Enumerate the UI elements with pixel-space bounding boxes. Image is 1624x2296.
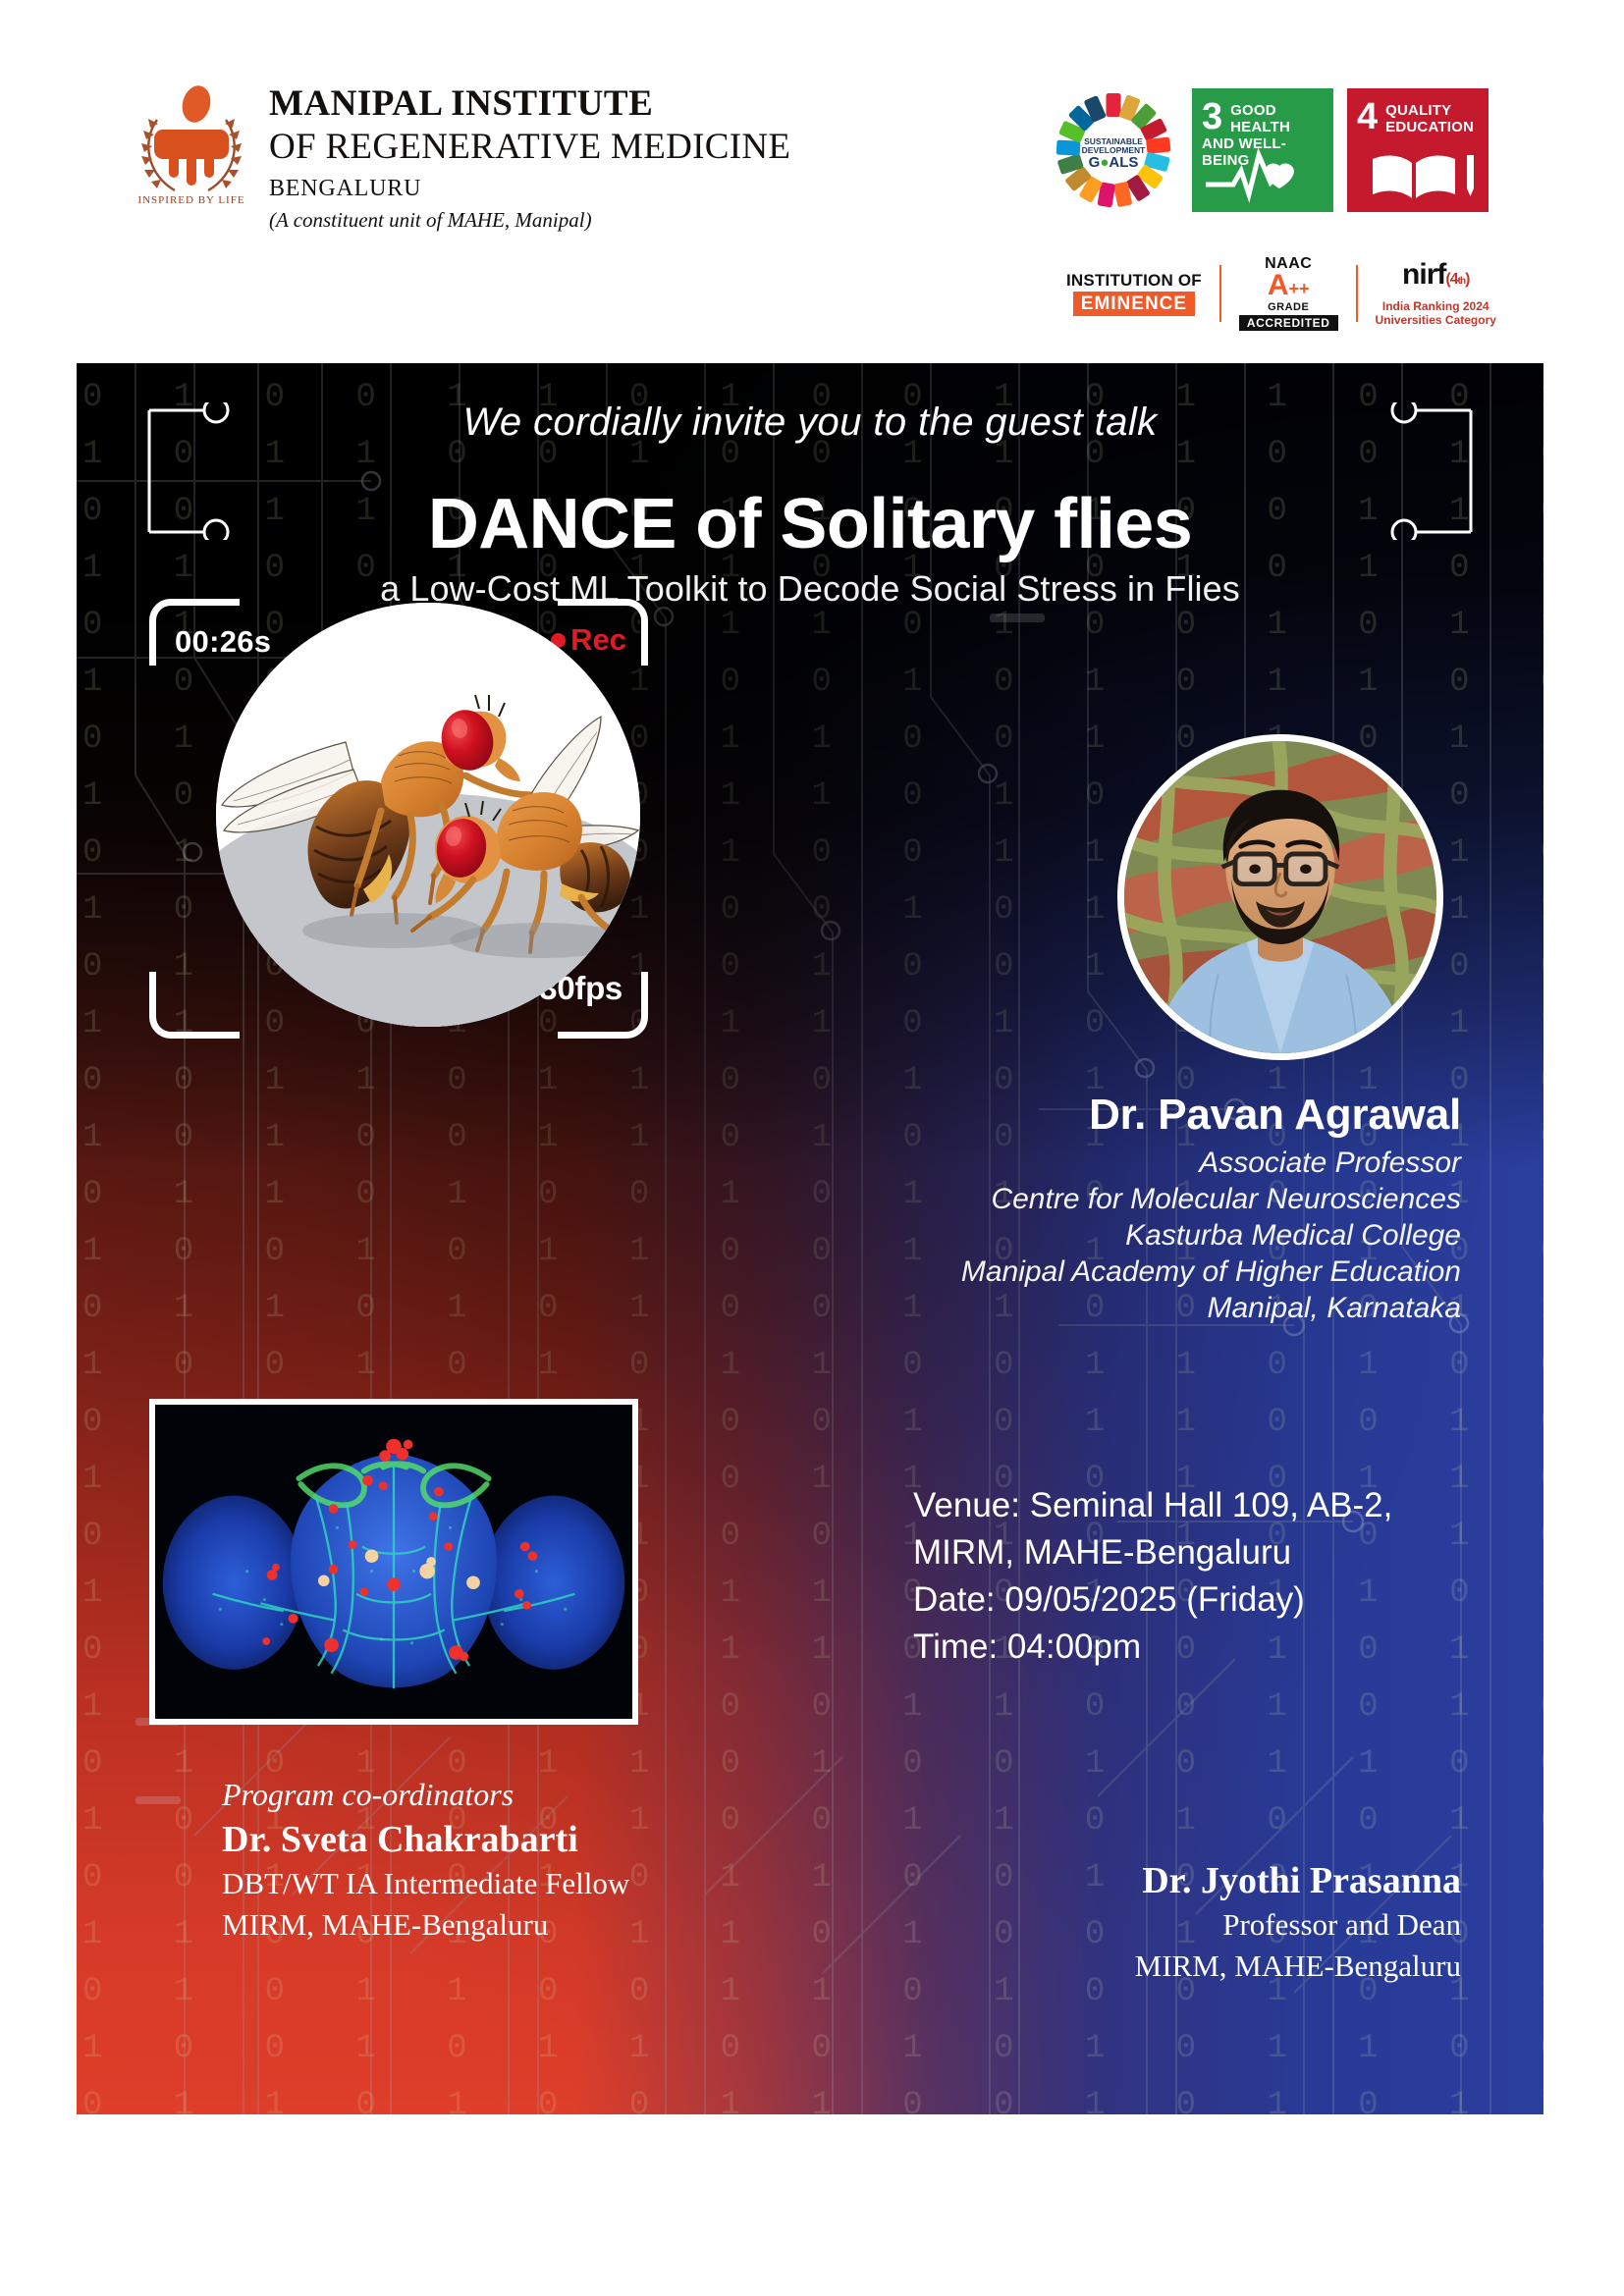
fly-illustration (216, 603, 640, 1027)
ioe-top-label: INSTITUTION OF (1066, 271, 1202, 290)
frame-corner-bottom-left (149, 972, 240, 1039)
book-pencil-icon (1347, 141, 1489, 204)
speaker-designation: Associate Professor (813, 1145, 1461, 1181)
naac-grade-letter: A (1268, 269, 1289, 301)
event-time: Time: 04:00pm (913, 1624, 1532, 1671)
sdg-goal-4-number: 4 (1357, 100, 1378, 133)
sdg-logo-group: SUSTAINABLE DEVELOPMENT G●ALS 3 GOOD HEA… (1049, 77, 1520, 224)
nirf-badge: nirf(4th) India Ranking 2024 Universitie… (1358, 260, 1514, 327)
speaker-affiliation-4: Manipal, Karnataka (813, 1290, 1461, 1326)
poster-title: DANCE of Solitary flies (77, 484, 1543, 564)
speaker-details: Dr. Pavan Agrawal Associate Professor Ce… (813, 1090, 1461, 1326)
fly-brain-image (149, 1399, 638, 1725)
naac-status: ACCREDITED (1239, 315, 1338, 331)
naac-badge: NAAC A++ GRADE ACCREDITED (1221, 256, 1356, 331)
recording-label: Rec (570, 622, 626, 658)
coordinators-heading: Program co-ordinators (222, 1777, 514, 1813)
event-venue-line1: Venue: Seminal Hall 109, AB-2, (913, 1482, 1532, 1529)
institute-name-line1: MANIPAL INSTITUTE (269, 82, 819, 126)
coordinator-right-role: Professor and Dean (872, 1904, 1461, 1946)
letterhead-top-row: INSPIRED BY LIFE MANIPAL INSTITUTE OF RE… (77, 49, 1543, 236)
event-poster: 0 1 0 0 1 1 0 1 0 0 1 0 1 1 0 0 1 0 1 0 … (77, 363, 1543, 2114)
institute-name-line2: OF REGENERATIVE MEDICINE (269, 126, 819, 169)
nirf-subtitle-2: Universities Category (1376, 313, 1496, 327)
speaker-affiliation-2: Kasturba Medical College (813, 1217, 1461, 1254)
speaker-name: Dr. Pavan Agrawal (813, 1090, 1461, 1141)
speaker-photo (1117, 734, 1443, 1060)
naac-grade-plus: ++ (1289, 279, 1310, 298)
sdg-goal-4-tile: 4 QUALITY EDUCATION (1347, 88, 1489, 212)
letterhead-header: INSPIRED BY LIFE MANIPAL INSTITUTE OF RE… (77, 27, 1543, 361)
nirf-logo-text: nirf (1402, 258, 1445, 291)
coordinator-right-name: Dr. Jyothi Prasanna (872, 1857, 1461, 1904)
recording-timer: 00:26s (175, 624, 271, 660)
heartbeat-icon (1192, 141, 1333, 204)
coordinator-left-org: MIRM, MAHE-Bengaluru (222, 1904, 811, 1946)
coordinator-left-role: DBT/WT IA Intermediate Fellow (222, 1863, 811, 1904)
coordinator-left-name: Dr. Sveta Chakrabarti (222, 1816, 811, 1863)
event-venue-line2: MIRM, MAHE-Bengaluru (913, 1529, 1532, 1576)
mirm-crest-logo: INSPIRED BY LIFE (128, 80, 255, 208)
institute-campus: BENGALURU (269, 173, 819, 204)
recording-frame: 00:26s Rec 30fps (149, 599, 648, 1039)
sdg-wheel-icon: SUSTAINABLE DEVELOPMENT G●ALS (1049, 85, 1178, 215)
coordinator-right: Dr. Jyothi Prasanna Professor and Dean M… (872, 1857, 1461, 1987)
coordinator-left: Dr. Sveta Chakrabarti DBT/WT IA Intermed… (222, 1816, 811, 1946)
accreditation-strip: INSTITUTION OF EMINENCE NAAC A++ GRADE A… (1049, 251, 1534, 336)
svg-text:INSPIRED BY LIFE: INSPIRED BY LIFE (137, 194, 244, 206)
coordinator-right-org: MIRM, MAHE-Bengaluru (872, 1946, 1461, 1987)
institute-unit-note: (A constituent unit of MAHE, Manipal) (269, 206, 819, 234)
sdg-goal-3-number: 3 (1202, 100, 1222, 133)
nirf-rank-suffix: th (1458, 276, 1465, 287)
speaker-affiliation-1: Centre for Molecular Neurosciences (813, 1181, 1461, 1217)
naac-grade-word: GRADE (1268, 302, 1309, 313)
sdg-goal-3-tile: 3 GOOD HEALTH AND WELL-BEING (1192, 88, 1333, 212)
event-details: Venue: Seminal Hall 109, AB-2, MIRM, MAH… (913, 1482, 1532, 1671)
institution-of-eminence-badge: INSTITUTION OF EMINENCE (1049, 271, 1219, 316)
speaker-affiliation-3: Manipal Academy of Higher Education (813, 1254, 1461, 1290)
svg-text:G●ALS: G●ALS (1089, 154, 1139, 171)
nirf-rank: 4 (1450, 271, 1458, 288)
poster-title-block: We cordially invite you to the guest tal… (77, 400, 1543, 610)
institute-wordmark: MANIPAL INSTITUTE OF REGENERATIVE MEDICI… (269, 82, 819, 234)
event-date: Date: 09/05/2025 (Friday) (913, 1576, 1532, 1624)
nirf-subtitle-1: India Ranking 2024 (1382, 299, 1489, 313)
poster-page: INSPIRED BY LIFE MANIPAL INSTITUTE OF RE… (0, 0, 1624, 2296)
ioe-bottom-label: EMINENCE (1073, 292, 1195, 316)
invitation-line: We cordially invite you to the guest tal… (77, 400, 1543, 445)
